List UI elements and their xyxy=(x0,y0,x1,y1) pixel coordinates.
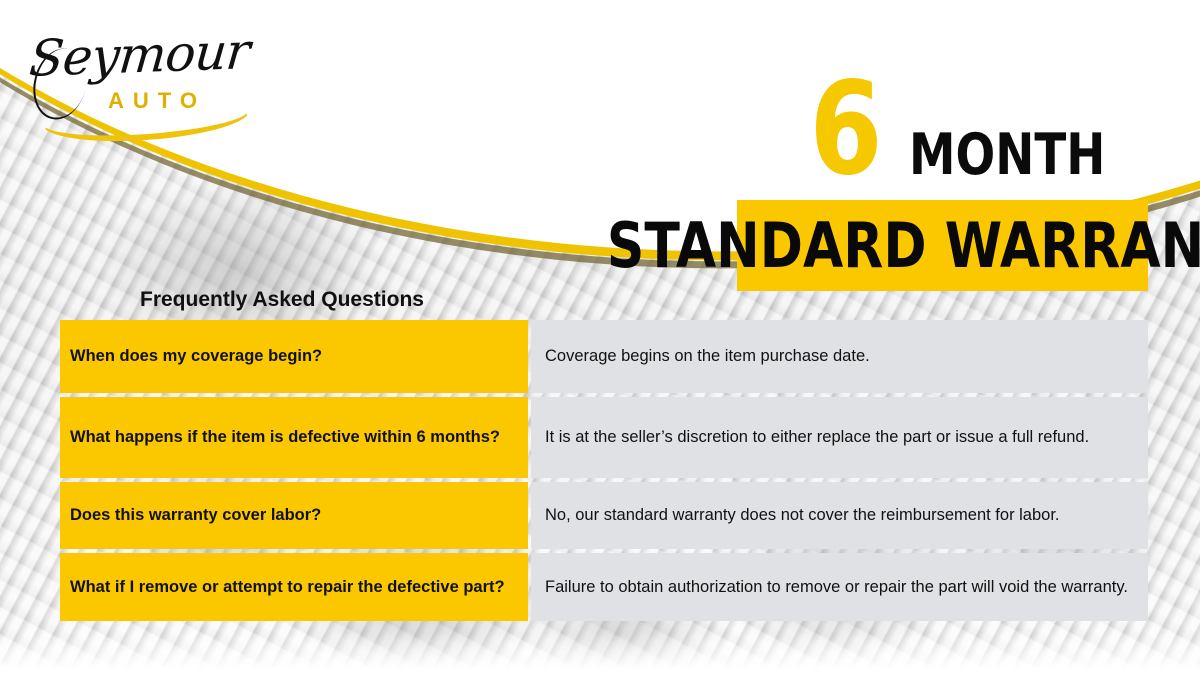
seymour-auto-logo[interactable]: Seymour AUTO xyxy=(24,22,244,126)
table-row: What if I remove or attempt to repair th… xyxy=(60,553,1148,621)
logo-brand-subtitle: AUTO xyxy=(108,88,206,114)
table-row: When does my coverage begin? Coverage be… xyxy=(60,320,1148,393)
background-bottom-fade xyxy=(0,633,1200,675)
faq-heading: Frequently Asked Questions xyxy=(140,288,424,312)
table-row: Does this warranty cover labor? No, our … xyxy=(60,482,1148,549)
table-row: What happens if the item is defective wi… xyxy=(60,397,1148,478)
warranty-slide: Seymour AUTO 6 MONTH STANDARD WARRANTY F… xyxy=(0,0,1200,675)
warranty-months-number: 6 xyxy=(810,78,881,183)
warranty-months-label: MONTH xyxy=(909,132,1105,183)
faq-table: When does my coverage begin? Coverage be… xyxy=(60,320,1148,625)
faq-question: Does this warranty cover labor? xyxy=(60,482,528,549)
faq-question: What happens if the item is defective wi… xyxy=(60,397,528,478)
warranty-duration-headline: 6 MONTH xyxy=(794,78,1148,183)
faq-question: When does my coverage begin? xyxy=(60,320,528,393)
faq-answer: It is at the seller’s discretion to eith… xyxy=(531,397,1148,478)
faq-question: What if I remove or attempt to repair th… xyxy=(60,553,528,621)
faq-answer: Failure to obtain authorization to remov… xyxy=(531,553,1148,621)
standard-warranty-text: STANDARD WARRANTY xyxy=(607,209,1200,282)
logo-brand-name: Seymour xyxy=(27,22,252,88)
faq-answer: Coverage begins on the item purchase dat… xyxy=(531,320,1148,393)
faq-answer: No, our standard warranty does not cover… xyxy=(531,482,1148,549)
standard-warranty-banner: STANDARD WARRANTY xyxy=(737,200,1148,291)
